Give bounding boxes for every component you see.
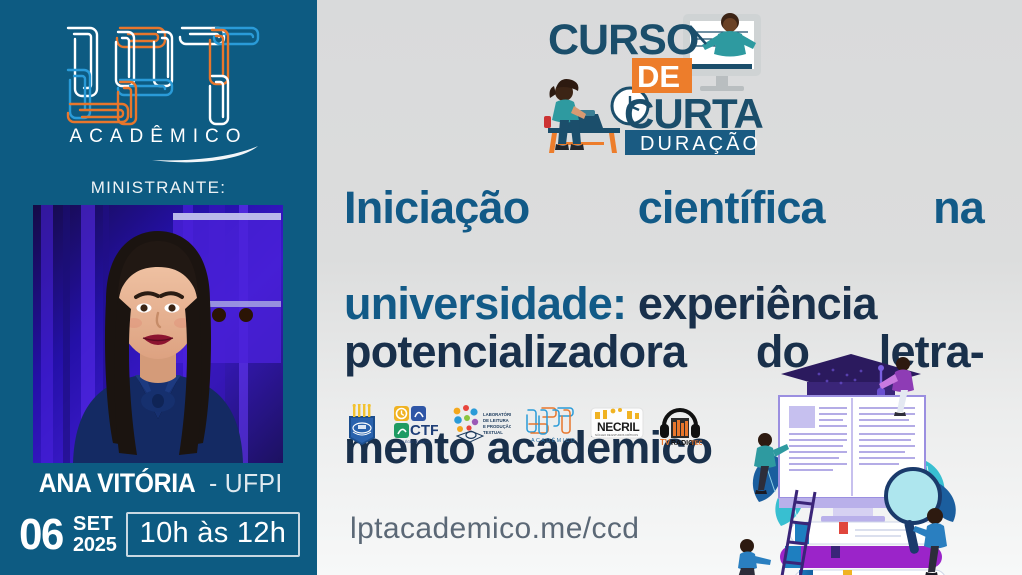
lpt-academico-logo: ACADÊMICO xyxy=(524,404,576,446)
logo-swoosh-icon xyxy=(0,142,317,164)
person-figure-icon xyxy=(735,539,771,575)
svg-text:LABORATÓRIO: LABORATÓRIO xyxy=(483,412,511,417)
title-line-2b: experiência xyxy=(638,278,877,329)
event-poster: ACADÊMICO MINISTRANTE: xyxy=(0,0,1022,575)
svg-text:TEC: TEC xyxy=(691,441,702,446)
ufpi-crest-logo xyxy=(345,404,379,446)
title-line-1: Iniciação científica na xyxy=(344,184,984,280)
event-url[interactable]: lptacademico.me/ccd xyxy=(350,512,639,546)
svg-text:COLÉGIO TÉCNICO: COLÉGIO TÉCNICO xyxy=(398,439,430,444)
necril-svg: NECRIL NÚCLEO DE ESTUDOS CRÍTICOS xyxy=(589,404,645,446)
svg-text:DE LEITURA: DE LEITURA xyxy=(483,418,509,423)
event-time-badge: 10h às 12h xyxy=(126,512,301,557)
lpt-academico-svg: ACADÊMICO xyxy=(524,404,576,446)
event-day: 06 xyxy=(19,516,63,554)
tv-radiotec-svg: TV RADIO TEC xyxy=(658,404,702,446)
lpt-logo-svg xyxy=(54,22,264,126)
course-badge-svg: CURSO DE CURTA DURAÇÃO xyxy=(540,6,765,158)
study-illustration-svg xyxy=(735,350,1022,575)
badge-line1-text: CURSO xyxy=(548,16,698,64)
event-year: 2025 xyxy=(73,535,117,555)
svg-text:ACADÊMICO: ACADÊMICO xyxy=(531,436,576,444)
svg-text:E PRODUÇÃO: E PRODUÇÃO xyxy=(483,424,511,429)
badge-line2-text: DE xyxy=(637,59,680,94)
svg-text:NECRIL: NECRIL xyxy=(597,420,639,434)
partner-logos-row: CTF COLÉGIO TÉCNICO LABORATÓRIO xyxy=(345,404,702,446)
lab-leitura-svg: LABORATÓRIO DE LEITURA E PRODUÇÃO TEXTUA… xyxy=(451,404,511,446)
event-datetime: 06 SET 2025 10h às 12h xyxy=(18,512,300,557)
ufpi-crest-svg xyxy=(345,404,379,446)
speaker-institution: - UFPI xyxy=(209,468,283,499)
tv-radiotec-logo: TV RADIO TEC xyxy=(658,404,702,446)
woman-at-laptop-icon xyxy=(544,79,620,153)
course-type-badge: CURSO DE CURTA DURAÇÃO xyxy=(540,6,765,158)
event-month-year: SET 2025 xyxy=(73,514,117,555)
event-time: 10h às 12h xyxy=(140,517,287,549)
badge-line3-text: CURTA xyxy=(624,90,764,137)
speaker-portrait-svg xyxy=(33,205,283,463)
ctf-svg: CTF COLÉGIO TÉCNICO xyxy=(392,404,438,446)
svg-text:NÚCLEO DE ESTUDOS CRÍTICOS: NÚCLEO DE ESTUDOS CRÍTICOS xyxy=(595,433,638,437)
svg-text:TEXTUAL: TEXTUAL xyxy=(483,430,503,435)
necril-logo: NECRIL NÚCLEO DE ESTUDOS CRÍTICOS xyxy=(589,404,645,446)
svg-text:TV: TV xyxy=(660,438,671,446)
title-line-2a: universidade: xyxy=(344,278,626,329)
speaker-name: ANA VITÓRIA xyxy=(39,468,196,499)
ctf-logo: CTF COLÉGIO TÉCNICO xyxy=(392,404,438,446)
speaker-portrait xyxy=(33,205,283,463)
svg-text:CTF: CTF xyxy=(410,422,438,439)
event-month: SET xyxy=(73,514,117,534)
speaker-info: ANA VITÓRIA - UFPI xyxy=(0,468,317,499)
badge-line4-text: DURAÇÃO xyxy=(640,131,761,155)
sidebar-panel: ACADÊMICO MINISTRANTE: xyxy=(0,0,317,575)
laboratorio-leitura-producao-textual-logo: LABORATÓRIO DE LEITURA E PRODUÇÃO TEXTUA… xyxy=(451,404,511,446)
books-graduation-study-illustration xyxy=(735,350,1022,575)
speaker-label: MINISTRANTE: xyxy=(0,178,317,198)
